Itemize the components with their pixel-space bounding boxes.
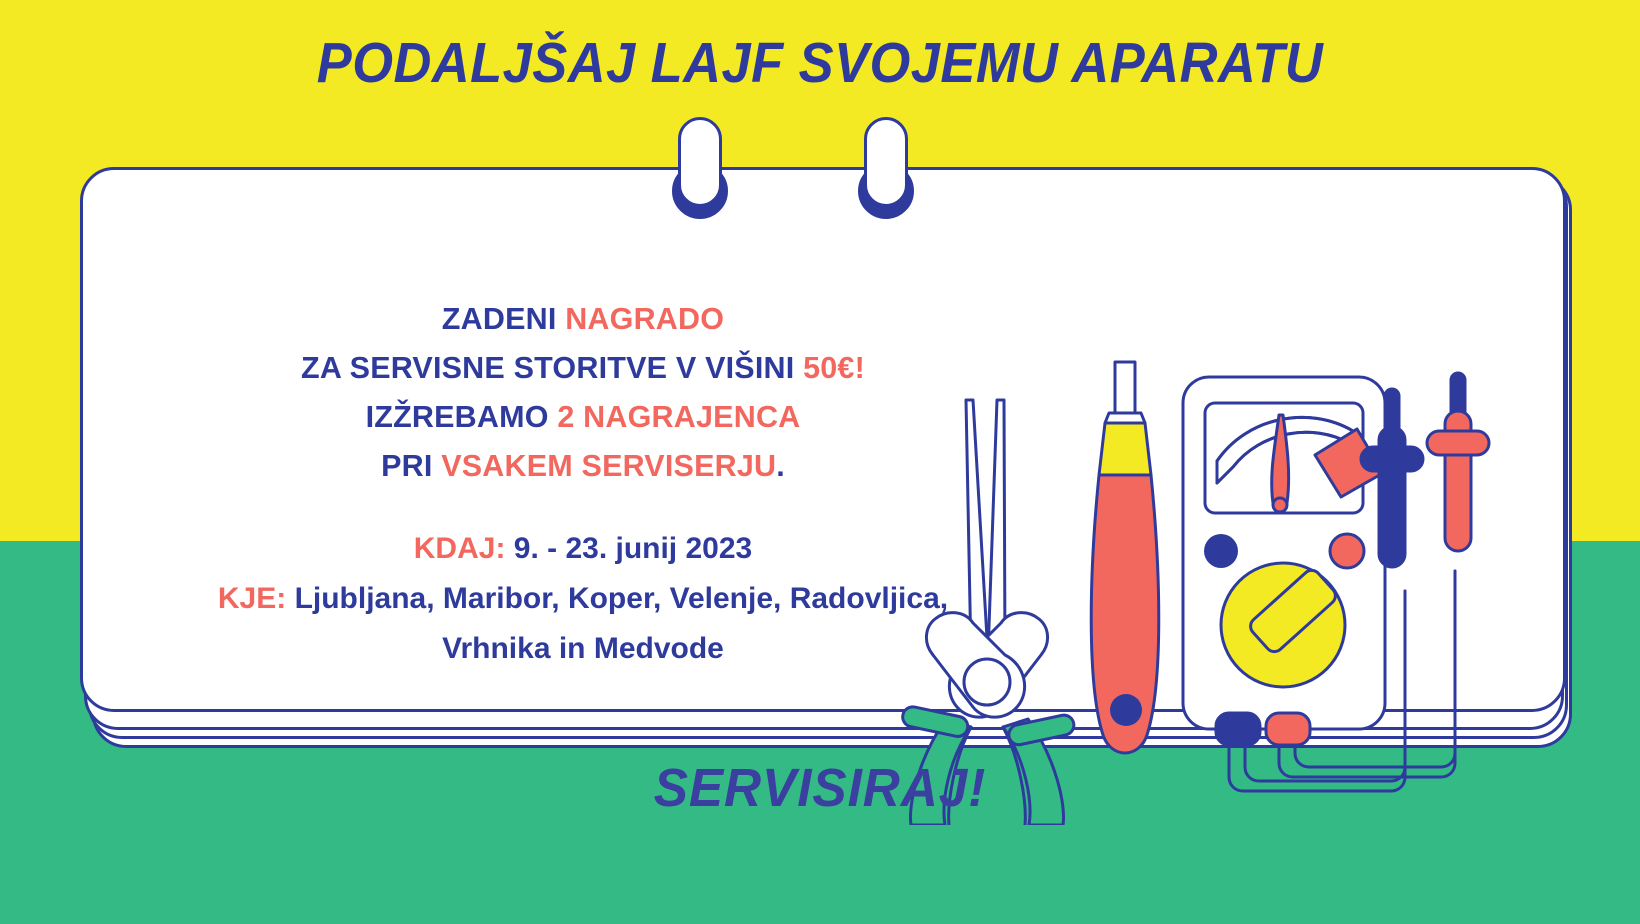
event-date-line: KDAJ: 9. - 23. junij 2023 [203,524,963,574]
promo-line-4-part-a: PRI [381,449,441,483]
screwdriver-icon [1091,362,1159,753]
event-location-value: Ljubljana, Maribor, Koper, Velenje, Rado… [286,582,948,665]
footer-callout: SERVISIRAJ! [41,757,1599,819]
promo-line-1-part-a: ZADENI [442,302,565,336]
event-location-label: KJE: [218,582,286,615]
promo-line-3-part-a: IZŽREBAMO [366,400,558,434]
test-probe-red-icon [1427,373,1489,551]
promo-line-3-highlight: 2 NAGRAJENCA [557,400,800,434]
promo-line-2-part-a: ZA SERVISNE STORITVE V VIŠINI [301,351,803,385]
poster: PODALJŠAJ LAJF SVOJEMU APARATU ZADENI NA… [0,0,1640,924]
promo-line-4-highlight: VSAKEM SERVISERJU [441,449,776,483]
promo-line-2: ZA SERVISNE STORITVE V VIŠINI 50€! [203,344,963,393]
promo-line-4: PRI VSAKEM SERVISERJU. [203,442,963,491]
event-details: KDAJ: 9. - 23. junij 2023 KJE: Ljubljana… [203,524,963,674]
event-location-line: KJE: Ljubljana, Maribor, Koper, Velenje,… [203,574,963,674]
promo-line-1: ZADENI NAGRADO [203,295,963,344]
hanger-pin-body-left [678,117,722,207]
multimeter-icon [1183,377,1385,745]
promo-text-block: ZADENI NAGRADO ZA SERVISNE STORITVE V VI… [203,295,963,674]
event-date-value: 9. - 23. junij 2023 [505,532,752,565]
promo-line-1-highlight: NAGRADO [565,302,724,336]
event-date-label: KDAJ: [414,532,506,565]
tools-illustration [883,355,1503,825]
content-card: ZADENI NAGRADO ZA SERVISNE STORITVE V VI… [80,167,1566,712]
hanger-pin-body-right [864,117,908,207]
promo-line-2-highlight: 50€! [803,351,865,385]
promo-line-3: IZŽREBAMO 2 NAGRAJENCA [203,393,963,442]
page-title: PODALJŠAJ LAJF SVOJEMU APARATU [66,30,1575,96]
promo-line-4-period: . [776,449,785,483]
